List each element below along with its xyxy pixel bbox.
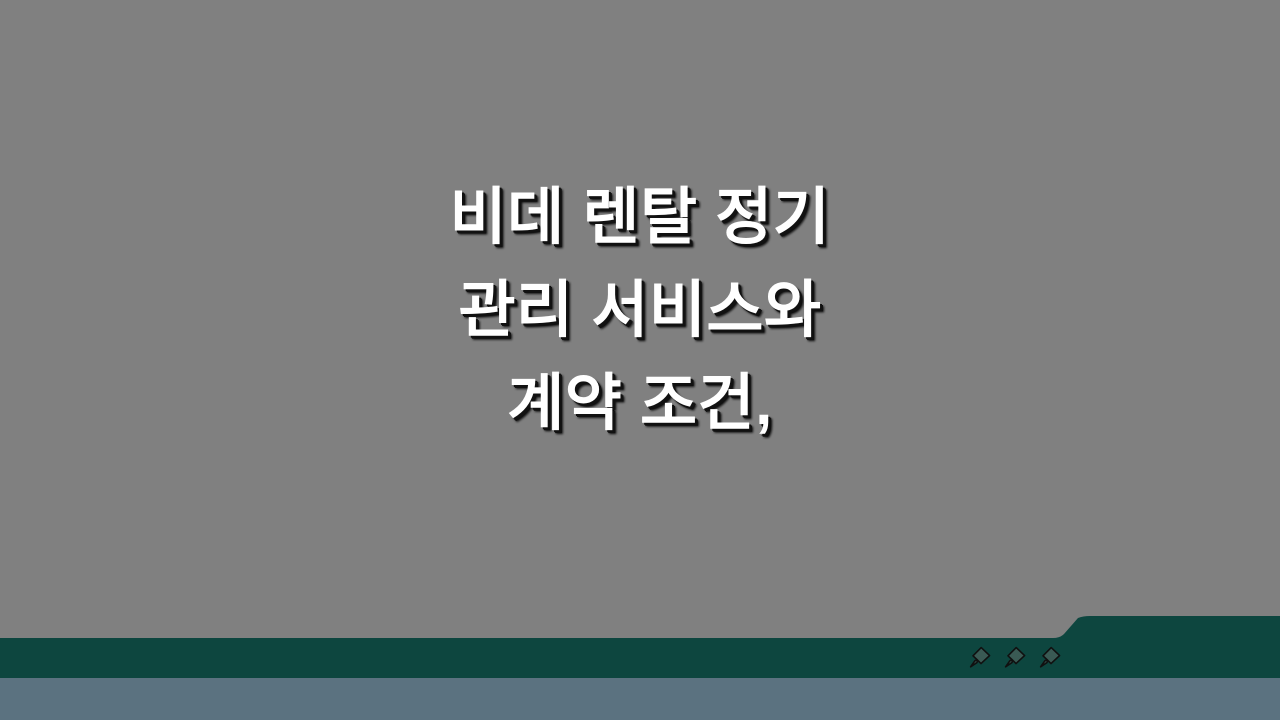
headline-line-1: 비데 렌탈 정기: [0, 171, 1280, 264]
slide-canvas: 비데 렌탈 정기 관리 서비스와 계약 조건,: [0, 0, 1280, 720]
headline-line-2: 관리 서비스와: [0, 264, 1280, 357]
headline-text-block: 비데 렌탈 정기 관리 서비스와 계약 조건,: [0, 0, 1280, 620]
footer-slate-band: [0, 678, 1280, 720]
pin-diamond-icon-3: [1038, 645, 1062, 669]
footer-teal-band-shape: [0, 610, 1280, 680]
footer-teal-band: [0, 610, 1280, 680]
pin-diamond-icon-2: [1003, 645, 1027, 669]
headline-line-3: 계약 조건,: [0, 357, 1280, 450]
footer-ornament-group: [968, 640, 1078, 674]
footer-teal-band-path: [0, 616, 1280, 678]
footer-teal-band-wrapper: [0, 610, 1280, 680]
pin-diamond-icon-1: [968, 645, 992, 669]
